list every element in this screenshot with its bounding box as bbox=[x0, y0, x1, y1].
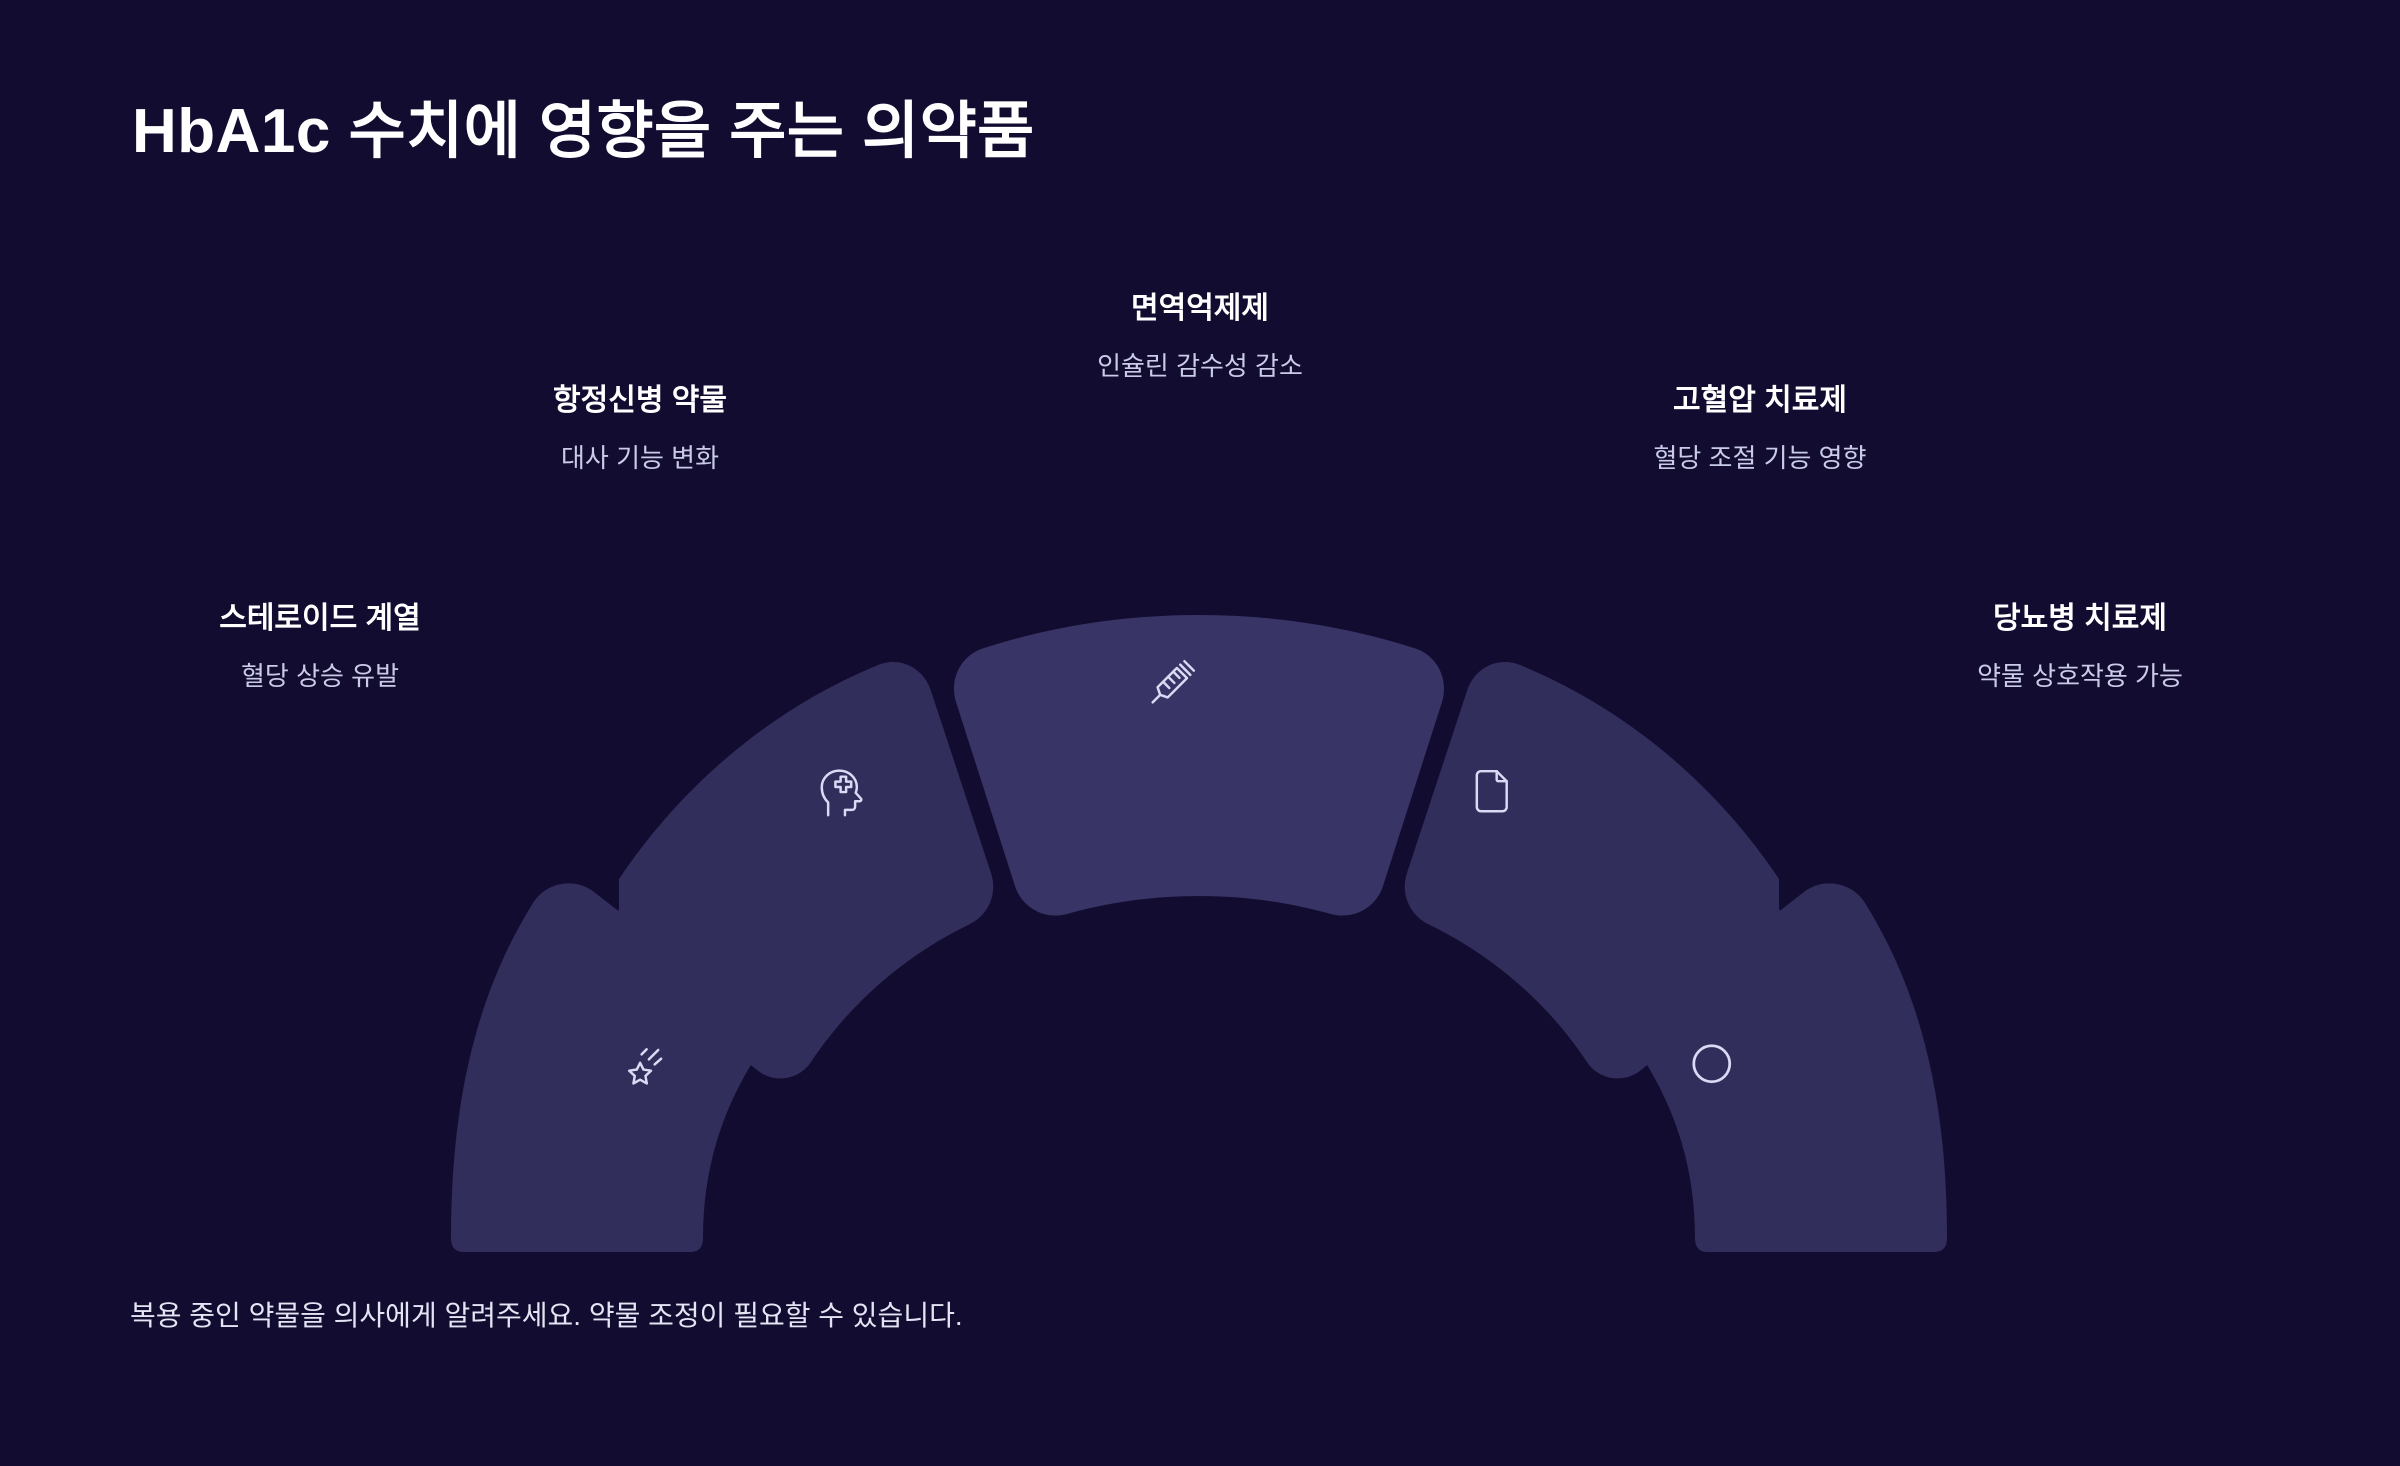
label-antihypertensive-title: 고혈압 치료제 bbox=[1440, 382, 2080, 420]
label-immunosuppressant-subtitle: 인슐린 감수성 감소 bbox=[880, 350, 1520, 383]
infographic-canvas: HbA1c 수치에 영향을 주는 의약품 bbox=[0, 0, 2400, 1466]
segment-2-shape[interactable] bbox=[954, 615, 1444, 916]
label-antihypertensive-subtitle: 혈당 조절 기능 영향 bbox=[1440, 442, 2080, 475]
label-antidiabetic-subtitle: 약물 상호작용 가능 bbox=[1760, 660, 2400, 693]
label-antipsychotic-subtitle: 대사 기능 변화 bbox=[320, 442, 960, 475]
label-antidiabetic-title: 당뇨병 치료제 bbox=[1760, 600, 2400, 638]
label-steroid-subtitle: 혈당 상승 유발 bbox=[0, 660, 640, 693]
label-steroid-title: 스테로이드 계열 bbox=[0, 600, 640, 638]
label-antidiabetic: 당뇨병 치료제 약물 상호작용 가능 bbox=[1760, 600, 2400, 692]
fan-svg bbox=[0, 0, 2400, 1466]
radial-segment-chart bbox=[0, 0, 2400, 1466]
label-immunosuppressant-title: 면역억제제 bbox=[880, 290, 1520, 328]
label-antipsychotic-title: 항정신병 약물 bbox=[320, 382, 960, 420]
label-antihypertensive: 고혈압 치료제 혈당 조절 기능 영향 bbox=[1440, 382, 2080, 474]
footer-note: 복용 중인 약물을 의사에게 알려주세요. 약물 조정이 필요할 수 있습니다. bbox=[130, 1298, 963, 1334]
label-steroid: 스테로이드 계열 혈당 상승 유발 bbox=[0, 600, 640, 692]
label-immunosuppressant: 면역억제제 인슐린 감수성 감소 bbox=[880, 290, 1520, 382]
segments-group bbox=[451, 615, 1947, 1252]
label-antipsychotic: 항정신병 약물 대사 기능 변화 bbox=[320, 382, 960, 474]
